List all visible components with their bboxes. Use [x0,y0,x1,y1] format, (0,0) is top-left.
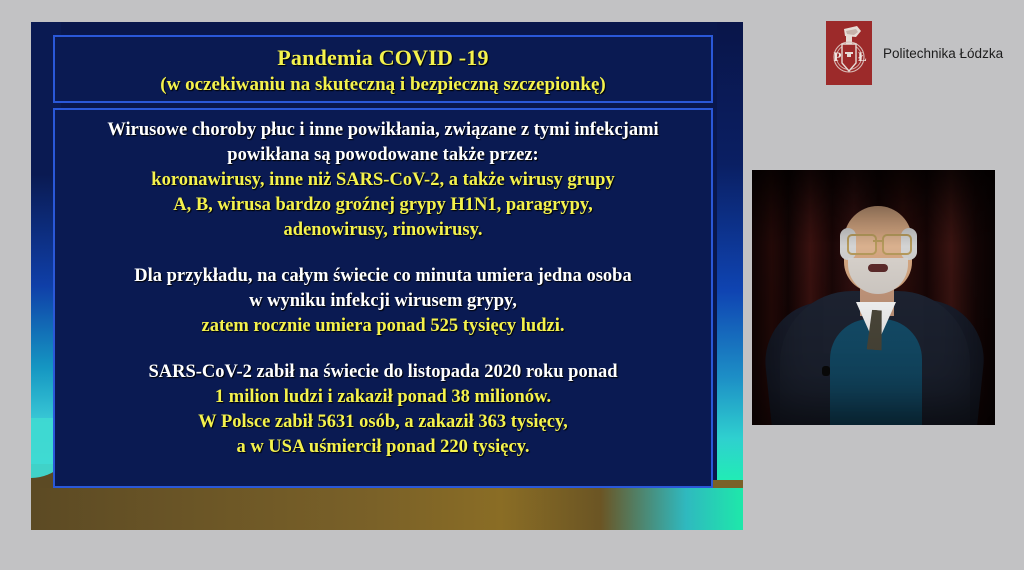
slide-body-content: Wirusowe choroby płuc i inne powikłania,… [55,118,711,460]
torch-shield-emblem-icon: P Ł [826,21,872,85]
slide-body-box: Wirusowe choroby płuc i inne powikłania,… [53,108,713,488]
slide-text-line: powikłana są powodowane także przez: [55,143,711,168]
university-logo-text: Politechnika Łódzka [883,46,1003,61]
slide-text-line: A, B, wirusa bardzo groźnej grypy H1N1, … [55,193,711,218]
slide-title-box: Pandemia COVID -19 (w oczekiwaniu na sku… [53,35,713,103]
slide-text-line: a w USA uśmiercił ponad 220 tysięcy. [55,435,711,460]
slide-right-gradient-decoration [717,22,743,530]
svg-text:Ł: Ł [858,49,867,64]
slide-text-line: Wirusowe choroby płuc i inne powikłania,… [55,118,711,143]
slide-paragraph: koronawirusy, inne niż SARS-CoV-2, a tak… [55,168,711,243]
slide-text-line: SARS-CoV-2 zabił na świecie do listopada… [55,360,711,385]
slide-paragraph: Wirusowe choroby płuc i inne powikłania,… [55,118,711,168]
svg-text:P: P [834,49,842,64]
slide-paragraph: zatem rocznie umiera ponad 525 tysięcy l… [55,314,711,339]
slide-text-line: Dla przykładu, na całym świecie co minut… [55,264,711,289]
slide-paragraph: SARS-CoV-2 zabił na świecie do listopada… [55,360,711,385]
slide-text-line: W Polsce zabił 5631 osób, a zakaził 363 … [55,410,711,435]
paragraph-spacer [55,243,711,264]
slide-subtitle: (w oczekiwaniu na skuteczną i bezpieczną… [55,73,711,97]
slide-text-line: adenowirusy, rinowirusy. [55,218,711,243]
slide-paragraph: 1 milion ludzi i zakaził ponad 38 milion… [55,385,711,460]
slide-text-line: zatem rocznie umiera ponad 525 tysięcy l… [55,314,711,339]
slide-title: Pandemia COVID -19 [55,44,711,72]
slide-paragraph: Dla przykładu, na całym świecie co minut… [55,264,711,314]
video-vignette [752,170,995,425]
paragraph-spacer [55,339,711,360]
presentation-slide: Pandemia COVID -19 (w oczekiwaniu na sku… [31,22,743,530]
university-logo: P Ł Politechnika Łódzka [826,21,1003,85]
speaker-video[interactable] [752,170,995,425]
slide-text-line: w wyniku infekcji wirusem grypy, [55,289,711,314]
slide-text-line: koronawirusy, inne niż SARS-CoV-2, a tak… [55,168,711,193]
slide-text-line: 1 milion ludzi i zakaził ponad 38 milion… [55,385,711,410]
slide-bottom-band-decoration [31,488,743,530]
